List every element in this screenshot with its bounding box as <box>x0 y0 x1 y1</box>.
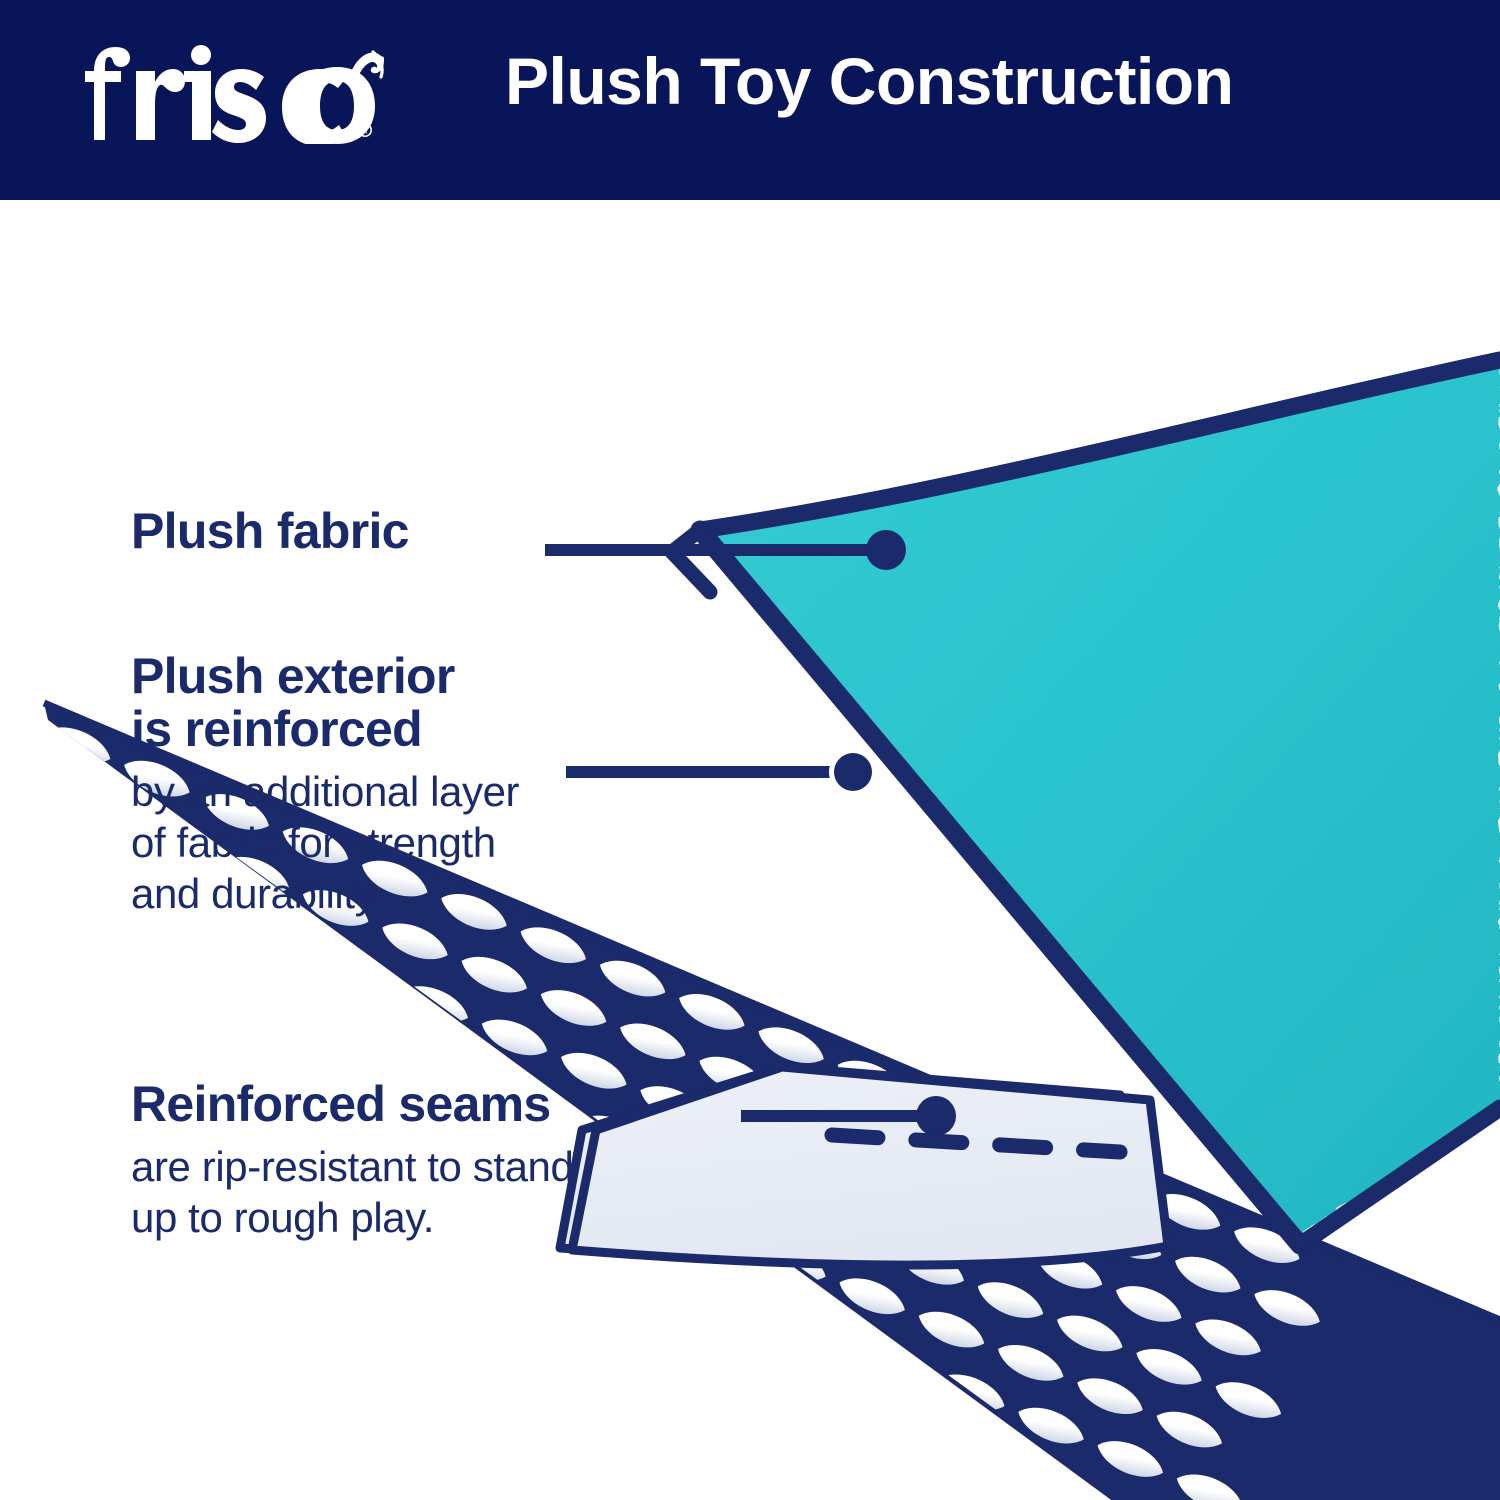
callout-headline-line: is reinforced <box>131 703 519 756</box>
callout-body-line: of fabric for strength <box>131 817 519 868</box>
leader-dot-plush-fabric <box>866 530 906 570</box>
frisco-logo: R <box>84 44 384 144</box>
callout-body-line: and durability. <box>131 868 519 919</box>
callout-body-line: are rip-resistant to stand <box>131 1141 573 1192</box>
header-bar: R Plush Toy Construction <box>0 0 1500 200</box>
callout-reinforced-seams: Reinforced seams are rip-resistant to st… <box>131 1078 573 1243</box>
frisco-wordmark-icon: R <box>84 44 384 144</box>
leader-dot-plush-exterior <box>834 753 872 791</box>
leader-line-plush-exterior <box>566 748 877 796</box>
page-title: Plush Toy Construction <box>505 48 1233 114</box>
callout-body-line: by an additional layer <box>131 766 519 817</box>
infographic-page: R Plush Toy Construction <box>0 0 1500 1500</box>
callout-headline-line: Plush exterior <box>131 650 519 703</box>
svg-text:R: R <box>362 127 368 136</box>
callout-headline-line: Reinforced seams <box>131 1078 573 1131</box>
callout-plush-exterior: Plush exterior is reinforced by an addit… <box>131 650 519 920</box>
callout-plush-fabric: Plush fabric <box>131 505 409 558</box>
callout-headline: Plush fabric <box>131 505 409 558</box>
leader-dot-reinforced-seams <box>916 1096 956 1136</box>
callout-body-line: up to rough play. <box>131 1192 573 1243</box>
